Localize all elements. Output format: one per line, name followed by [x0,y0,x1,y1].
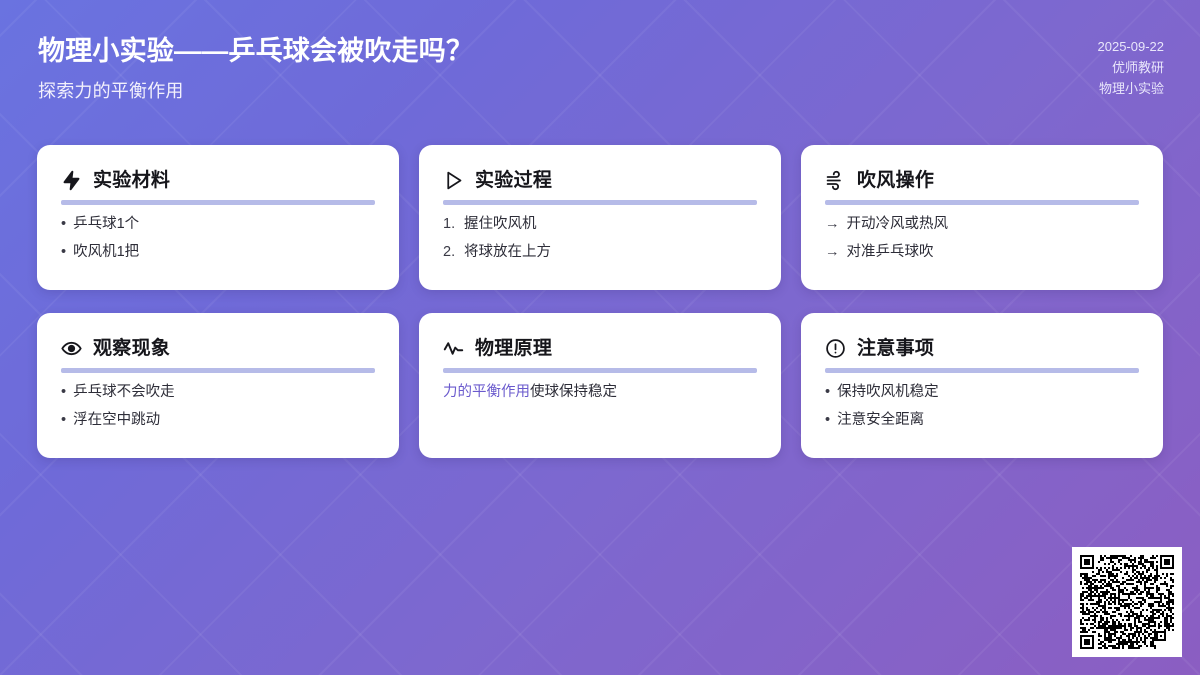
play-triangle-icon [443,170,464,191]
card-body: •保持吹风机稳定•注意安全距离 [825,385,1139,429]
content-card: 实验过程1.握住吹风机2.将球放在上方 [419,145,781,290]
list-item-label: 握住吹风机 [464,217,537,233]
card-header: 注意事项 [825,335,1139,361]
list-item: •乒乓球不会吹走 [61,385,375,401]
header-org: 优师教研 [1098,57,1165,78]
qr-code-image [1080,555,1174,649]
card-divider [61,368,375,373]
slide-canvas: 物理小实验——乒乓球会被吹走吗？ 探索力的平衡作用 2025-09-22 优师教… [0,0,1200,675]
list-item-marker: • [61,385,66,401]
card-body: •乒乓球不会吹走•浮在空中跳动 [61,385,375,429]
content-card-grid: 实验材料•乒乓球1个•吹风机1把实验过程1.握住吹风机2.将球放在上方吹风操作→… [37,145,1163,458]
header-title-block: 物理小实验——乒乓球会被吹走吗？ 探索力的平衡作用 [38,36,473,103]
card-title: 观察现象 [93,339,170,358]
list-item-marker: 1. [443,217,457,233]
list-item: •吹风机1把 [61,245,375,261]
highlighted-term: 力的平衡作用 [443,384,530,400]
header-meta-block: 2025-09-22 优师教研 物理小实验 [1098,36,1165,99]
card-header: 实验材料 [61,167,375,193]
wind-icon [825,170,846,191]
list-item: →对准乒乓球吹 [825,245,1139,261]
list-item: 1.握住吹风机 [443,217,757,233]
list-item-marker: • [825,385,830,401]
list-item: •乒乓球1个 [61,217,375,233]
content-card: 实验材料•乒乓球1个•吹风机1把 [37,145,399,290]
alert-circle-icon [825,338,846,359]
card-title: 实验过程 [475,171,552,190]
card-paragraph: 力的平衡作用使球保持稳定 [443,385,757,401]
list-item-marker: • [61,245,66,261]
slide-header: 物理小实验——乒乓球会被吹走吗？ 探索力的平衡作用 2025-09-22 优师教… [0,0,1200,130]
list-item-marker: 2. [443,245,457,261]
list-item-marker: → [825,217,840,233]
card-divider [825,200,1139,205]
card-header: 物理原理 [443,335,757,361]
card-body: →开动冷风或热风→对准乒乓球吹 [825,217,1139,261]
page-subtitle: 探索力的平衡作用 [38,77,473,103]
list-item-label: 开动冷风或热风 [847,217,949,233]
content-card: 物理原理力的平衡作用使球保持稳定 [419,313,781,458]
list-item: 2.将球放在上方 [443,245,757,261]
zap-icon [61,170,82,191]
card-divider [443,200,757,205]
list-item-marker: • [61,413,66,429]
paragraph-rest: 使球保持稳定 [530,384,617,400]
card-header: 吹风操作 [825,167,1139,193]
list-item-label: 对准乒乓球吹 [847,245,934,261]
list-item-label: 注意安全距离 [837,413,924,429]
list-item-label: 浮在空中跳动 [73,413,160,429]
qr-code[interactable] [1072,547,1182,657]
content-card: 吹风操作→开动冷风或热风→对准乒乓球吹 [801,145,1163,290]
list-item: •浮在空中跳动 [61,413,375,429]
list-item-marker: • [61,217,66,233]
list-item-label: 乒乓球不会吹走 [73,385,175,401]
list-item-label: 将球放在上方 [464,245,551,261]
card-divider [61,200,375,205]
content-card: 观察现象•乒乓球不会吹走•浮在空中跳动 [37,313,399,458]
card-body: 力的平衡作用使球保持稳定 [443,385,757,401]
card-divider [443,368,757,373]
activity-pulse-icon [443,338,464,359]
card-title: 注意事项 [857,339,934,358]
list-item: •注意安全距离 [825,413,1139,429]
card-body: •乒乓球1个•吹风机1把 [61,217,375,261]
list-item-label: 乒乓球1个 [73,217,139,233]
list-item-label: 吹风机1把 [73,245,139,261]
card-title: 吹风操作 [857,171,934,190]
card-title: 物理原理 [475,339,552,358]
header-series: 物理小实验 [1098,78,1165,99]
list-item-label: 保持吹风机稳定 [837,385,939,401]
content-card: 注意事项•保持吹风机稳定•注意安全距离 [801,313,1163,458]
list-item: →开动冷风或热风 [825,217,1139,233]
card-body: 1.握住吹风机2.将球放在上方 [443,217,757,261]
list-item-marker: • [825,413,830,429]
card-title: 实验材料 [93,171,170,190]
list-item: •保持吹风机稳定 [825,385,1139,401]
card-header: 观察现象 [61,335,375,361]
card-divider [825,368,1139,373]
header-date: 2025-09-22 [1098,36,1165,57]
page-title: 物理小实验——乒乓球会被吹走吗？ [38,36,473,68]
eye-icon [61,338,82,359]
card-header: 实验过程 [443,167,757,193]
list-item-marker: → [825,245,840,261]
